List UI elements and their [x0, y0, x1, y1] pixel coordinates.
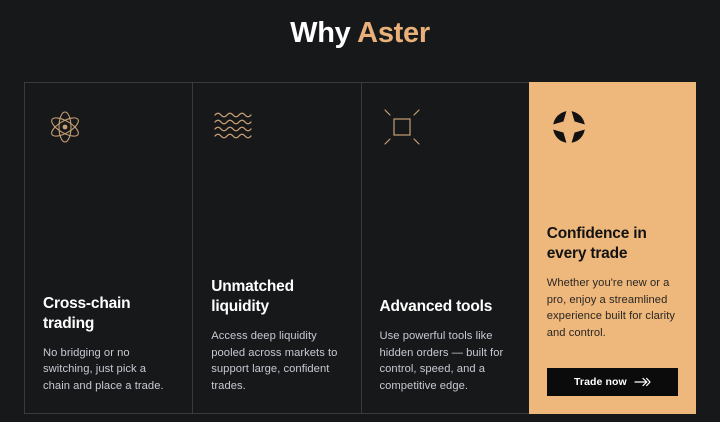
card-description: Access deep liquidity pooled across mark…	[211, 328, 342, 395]
card-title: Cross-chain trading	[43, 294, 174, 334]
feature-card-cross-chain-trading[interactable]: Cross-chain trading No bridging or no sw…	[24, 83, 192, 413]
trade-now-label: Trade now	[574, 376, 627, 388]
card-description: Use powerful tools like hidden orders — …	[380, 328, 511, 395]
cta-container: Trade now	[547, 368, 678, 396]
feature-card-confidence-in-every-trade[interactable]: Confidence in every trade Whether you're…	[529, 82, 696, 414]
feature-card-grid: Cross-chain trading No bridging or no sw…	[24, 82, 696, 414]
card-title: Unmatched liquidity	[211, 277, 342, 317]
card-text-block: Confidence in every trade Whether you're…	[547, 224, 678, 396]
card-title: Confidence in every trade	[547, 224, 678, 264]
feature-card-advanced-tools[interactable]: Advanced tools Use powerful tools like h…	[361, 83, 529, 413]
card-description: No bridging or no switching, just pick a…	[43, 345, 174, 395]
arrow-right-icon	[634, 377, 651, 387]
card-text-block: Advanced tools Use powerful tools like h…	[380, 297, 511, 395]
page-title: Why Aster	[0, 0, 720, 51]
waves-icon	[211, 105, 255, 149]
trade-now-button[interactable]: Trade now	[547, 368, 678, 396]
card-description: Whether you're new or a pro, enjoy a str…	[547, 275, 678, 342]
feature-card-unmatched-liquidity[interactable]: Unmatched liquidity Access deep liquidit…	[192, 83, 360, 413]
card-text-block: Cross-chain trading No bridging or no sw…	[43, 294, 174, 395]
star-burst-icon	[547, 105, 591, 149]
atom-icon	[43, 105, 87, 149]
expand-square-icon	[380, 105, 424, 149]
page-title-prefix: Why	[290, 17, 350, 49]
card-title: Advanced tools	[380, 297, 511, 317]
page-title-brand: Aster	[357, 17, 430, 49]
card-text-block: Unmatched liquidity Access deep liquidit…	[211, 277, 342, 395]
